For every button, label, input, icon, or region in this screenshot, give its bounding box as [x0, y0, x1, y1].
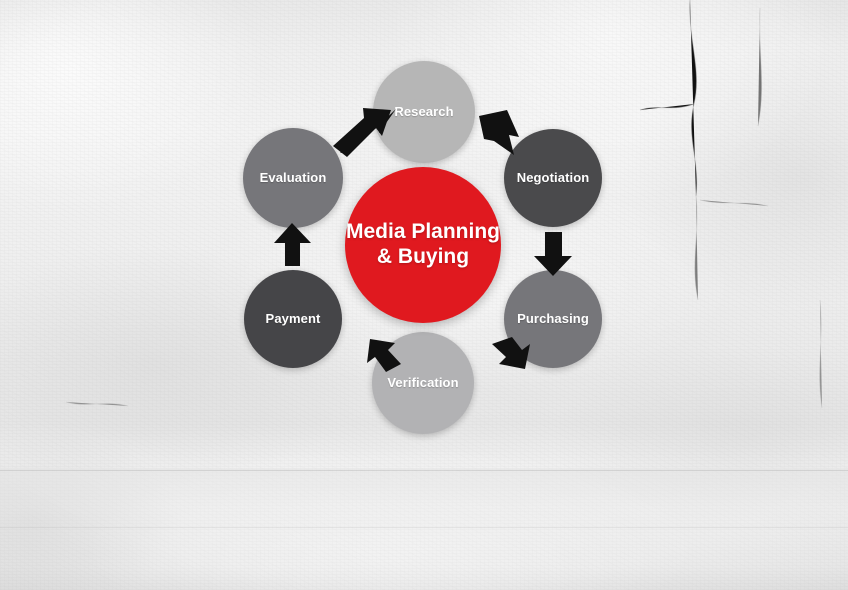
diagram-canvas: Research Negotiation Purchasing Verifica…	[0, 0, 848, 590]
cycle-node-label-verification: Verification	[387, 376, 458, 391]
cycle-node-negotiation[interactable]: Negotiation	[504, 129, 602, 227]
cycle-node-payment[interactable]: Payment	[244, 270, 342, 368]
arrow-payment-to-evaluation	[274, 223, 311, 266]
cycle-node-label-research: Research	[394, 105, 453, 120]
cycle-node-purchasing[interactable]: Purchasing	[504, 270, 602, 368]
cycle-node-evaluation[interactable]: Evaluation	[243, 128, 343, 228]
cycle-hub-media-planning-buying[interactable]: Media Planning & Buying	[345, 167, 501, 323]
cycle-node-label-payment: Payment	[266, 312, 321, 327]
cycle-node-research[interactable]: Research	[373, 61, 475, 163]
cycle-node-verification[interactable]: Verification	[372, 332, 474, 434]
cycle-hub-label-line2: & Buying	[346, 245, 500, 270]
cycle-hub-label: Media Planning & Buying	[346, 220, 500, 270]
cycle-node-label-purchasing: Purchasing	[517, 312, 589, 327]
cycle-node-label-negotiation: Negotiation	[517, 171, 590, 186]
media-planning-cycle-diagram: Research Negotiation Purchasing Verifica…	[0, 0, 848, 590]
cycle-node-label-evaluation: Evaluation	[260, 171, 327, 186]
cycle-hub-label-line1: Media Planning	[346, 220, 500, 245]
